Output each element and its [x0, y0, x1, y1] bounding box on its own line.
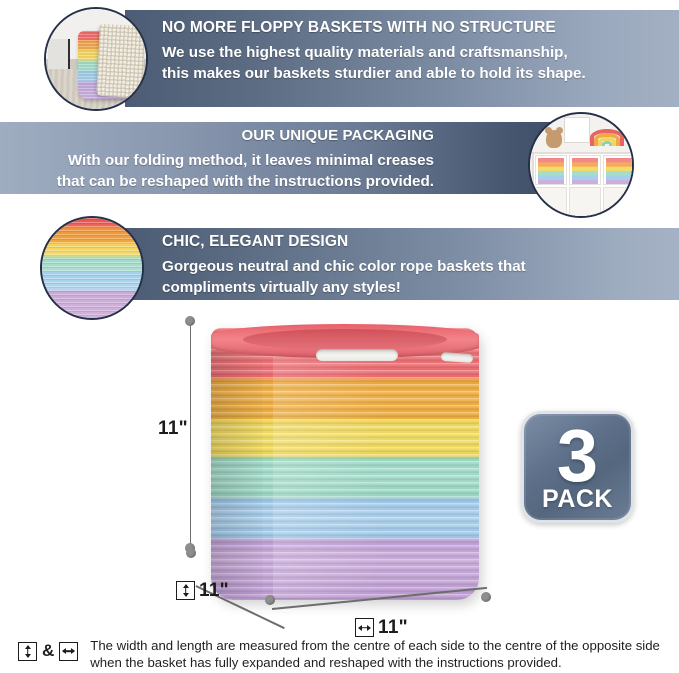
three-pack-badge: 3 PACK	[521, 411, 634, 523]
dim-dot-depth-start	[186, 548, 196, 558]
banner-2-heading: OUR UNIQUE PACKAGING	[12, 126, 434, 146]
basket-body	[211, 328, 479, 600]
basket-opening	[243, 329, 447, 350]
rainbow-toy	[590, 128, 624, 146]
banner-1-photo-basket-with-towel	[44, 7, 148, 111]
pack-count-number: 3	[557, 426, 598, 486]
rainbow-arc-green	[602, 141, 612, 146]
dim-line-height	[190, 326, 192, 545]
shelf-cell-1	[535, 155, 567, 185]
measurement-disclaimer: & The width and length are measured from…	[18, 638, 668, 671]
feature-banner-no-more-floppy-baskets: NO MORE FLOPPY BASKETS WITH NO STRUCTURE…	[125, 10, 679, 107]
banner-2-body-line-1: With our folding method, it leaves minim…	[12, 151, 434, 172]
banner-3-photo-rope-texture	[40, 216, 144, 320]
shelf-cell-4	[535, 187, 567, 217]
banner-3-body-line-2: compliments virtually any styles!	[162, 278, 667, 299]
pack-label: PACK	[542, 486, 613, 512]
basket-handle-front	[316, 349, 398, 361]
disclaimer-line-1: The width and length are measured from t…	[90, 638, 660, 655]
banner-2-photo-shelf-with-baskets	[528, 112, 634, 218]
banner-1-content: NO MORE FLOPPY BASKETS WITH NO STRUCTURE…	[162, 18, 667, 84]
shelf-basket-3	[606, 158, 632, 184]
disclaimer-line-2: when the basket has fully expanded and r…	[90, 655, 660, 672]
shelf-cell-3	[603, 155, 634, 185]
feature-banner-our-unique-packaging: OUR UNIQUE PACKAGING With our folding me…	[0, 122, 554, 194]
product-basket-image	[203, 318, 488, 605]
disclaimer-text: The width and length are measured from t…	[90, 638, 660, 671]
dim-label-width-value: 11"	[378, 617, 408, 638]
photo-scene-rope-macro	[42, 218, 142, 318]
banner-2-body: With our folding method, it leaves minim…	[12, 151, 434, 192]
banner-3-content: CHIC, ELEGANT DESIGN Gorgeous neutral an…	[162, 232, 667, 298]
photo-scene-playroom-shelf	[530, 114, 632, 216]
teddy-bear	[546, 130, 562, 148]
dim-dot-depth-end	[265, 595, 275, 605]
banner-3-body: Gorgeous neutral and chic color rope bas…	[162, 257, 667, 298]
banner-2-content: OUR UNIQUE PACKAGING With our folding me…	[12, 126, 434, 192]
dim-label-depth: 11"	[176, 580, 229, 602]
wall-art-frame	[564, 117, 590, 143]
shelf-cell-6	[603, 187, 634, 217]
banner-1-body-line-2: this makes our baskets sturdier and able…	[162, 64, 667, 85]
feature-banner-chic-elegant-design: CHIC, ELEGANT DESIGN Gorgeous neutral an…	[125, 228, 679, 300]
ampersand: &	[42, 641, 54, 661]
dim-dot-height-top	[185, 316, 195, 326]
shelf-basket-2	[572, 158, 598, 184]
cube-shelf-unit	[532, 152, 634, 218]
disclaimer-icon-group: &	[18, 638, 78, 661]
horizontal-arrow-icon	[59, 642, 78, 661]
dim-label-width: 11"	[355, 617, 408, 639]
waffle-towel	[96, 24, 146, 98]
dim-dot-width-end	[481, 592, 491, 602]
banner-2-body-line-2: that can be reshaped with the instructio…	[12, 172, 434, 193]
horizontal-arrow-icon	[355, 618, 374, 637]
vertical-arrow-icon	[176, 581, 195, 600]
dim-label-height: 11"	[158, 418, 188, 440]
vertical-arrow-icon	[18, 642, 37, 661]
banner-3-heading: CHIC, ELEGANT DESIGN	[162, 232, 667, 252]
shelf-cell-5	[569, 187, 601, 217]
banner-1-body-line-1: We use the highest quality materials and…	[162, 43, 667, 64]
shelf-cell-2	[569, 155, 601, 185]
shelf-basket-1	[538, 158, 564, 184]
photo-scene-living-room	[46, 9, 146, 109]
banner-1-body: We use the highest quality materials and…	[162, 43, 667, 84]
banner-3-body-line-1: Gorgeous neutral and chic color rope bas…	[162, 257, 667, 278]
dim-label-depth-value: 11"	[199, 580, 229, 601]
infographic-page: NO MORE FLOPPY BASKETS WITH NO STRUCTURE…	[0, 0, 679, 673]
rope-texture	[42, 218, 142, 318]
banner-1-heading: NO MORE FLOPPY BASKETS WITH NO STRUCTURE	[162, 18, 667, 38]
